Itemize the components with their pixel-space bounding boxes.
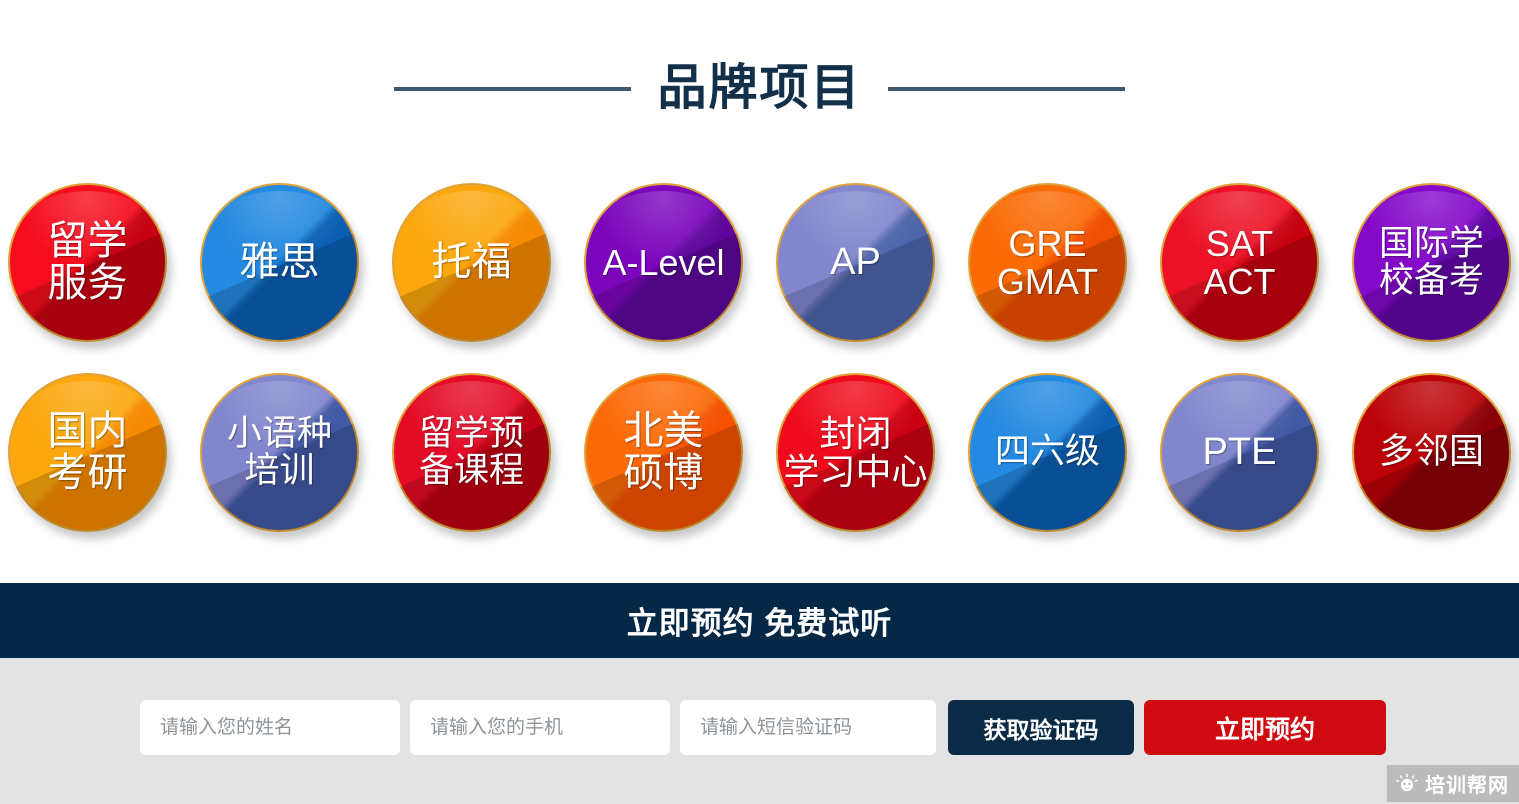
program-bubble[interactable]: 小语种 培训 bbox=[200, 373, 359, 532]
watermark-text: 培训帮网 bbox=[1425, 769, 1509, 798]
program-bubble-label: SAT ACT bbox=[1202, 225, 1278, 300]
program-bubble-label: GRE GMAT bbox=[995, 225, 1100, 300]
program-bubble[interactable]: AP bbox=[776, 183, 935, 342]
program-bubble-label: 雅思 bbox=[238, 242, 322, 284]
program-grid: 留学 服务雅思托福A-LevelAPGRE GMATSAT ACT国际学 校备考… bbox=[0, 183, 1519, 532]
program-bubble-label: AP bbox=[828, 243, 883, 283]
header-rule-right bbox=[888, 87, 1125, 91]
site-watermark: 培训帮网 bbox=[1387, 765, 1519, 802]
program-bubble[interactable]: 北美 硕博 bbox=[584, 373, 743, 532]
program-bubble[interactable]: 多邻国 bbox=[1352, 373, 1511, 532]
cta-banner: 立即预约 免费试听 bbox=[0, 583, 1519, 658]
program-bubble[interactable]: 留学 服务 bbox=[8, 183, 167, 342]
program-bubble-label: A-Level bbox=[600, 244, 726, 281]
program-row-2: 国内 考研小语种 培训留学预 备课程北美 硕博封闭 学习中心四六级PTE多邻国 bbox=[0, 373, 1519, 532]
booking-form: 获取验证码 立即预约 bbox=[140, 700, 1386, 755]
sms-code-input[interactable] bbox=[680, 700, 936, 755]
program-bubble[interactable]: GRE GMAT bbox=[968, 183, 1127, 342]
program-bubble[interactable]: 国际学 校备考 bbox=[1352, 183, 1511, 342]
program-bubble[interactable]: SAT ACT bbox=[1160, 183, 1319, 342]
phone-input[interactable] bbox=[410, 700, 670, 755]
program-bubble-label: 留学预 备课程 bbox=[417, 416, 526, 489]
cta-banner-text: 立即预约 免费试听 bbox=[627, 598, 893, 643]
program-bubble-label: 北美 硕博 bbox=[622, 411, 706, 494]
program-bubble[interactable]: 托福 bbox=[392, 183, 551, 342]
program-bubble[interactable]: 留学预 备课程 bbox=[392, 373, 551, 532]
program-bubble-label: PTE bbox=[1201, 433, 1279, 473]
program-bubble-label: 小语种 培训 bbox=[225, 416, 334, 489]
program-bubble-label: 国内 考研 bbox=[46, 411, 130, 494]
program-bubble[interactable]: 雅思 bbox=[200, 183, 359, 342]
program-bubble-label: 托福 bbox=[430, 242, 514, 284]
name-input[interactable] bbox=[140, 700, 400, 755]
page-root: 品牌项目 留学 服务雅思托福A-LevelAPGRE GMATSAT ACT国际… bbox=[0, 0, 1519, 804]
get-sms-code-button[interactable]: 获取验证码 bbox=[948, 700, 1134, 755]
program-row-1: 留学 服务雅思托福A-LevelAPGRE GMATSAT ACT国际学 校备考 bbox=[0, 183, 1519, 342]
program-bubble[interactable]: 四六级 bbox=[968, 373, 1127, 532]
program-bubble[interactable]: 封闭 学习中心 bbox=[776, 373, 935, 532]
page-title: 品牌项目 bbox=[657, 62, 861, 116]
program-bubble-label: 多邻国 bbox=[1377, 434, 1486, 470]
program-bubble-label: 封闭 学习中心 bbox=[781, 415, 929, 490]
smiley-sun-icon bbox=[1396, 773, 1418, 795]
header-rule-left bbox=[394, 87, 631, 91]
program-bubble[interactable]: 国内 考研 bbox=[8, 373, 167, 532]
section-header: 品牌项目 bbox=[0, 62, 1519, 116]
submit-booking-button[interactable]: 立即预约 bbox=[1144, 700, 1386, 755]
program-bubble[interactable]: PTE bbox=[1160, 373, 1319, 532]
program-bubble-label: 四六级 bbox=[993, 434, 1102, 470]
program-bubble-label: 留学 服务 bbox=[46, 221, 130, 304]
booking-form-strip: 获取验证码 立即预约 bbox=[0, 658, 1519, 804]
program-bubble-label: 国际学 校备考 bbox=[1377, 226, 1486, 299]
program-bubble[interactable]: A-Level bbox=[584, 183, 743, 342]
